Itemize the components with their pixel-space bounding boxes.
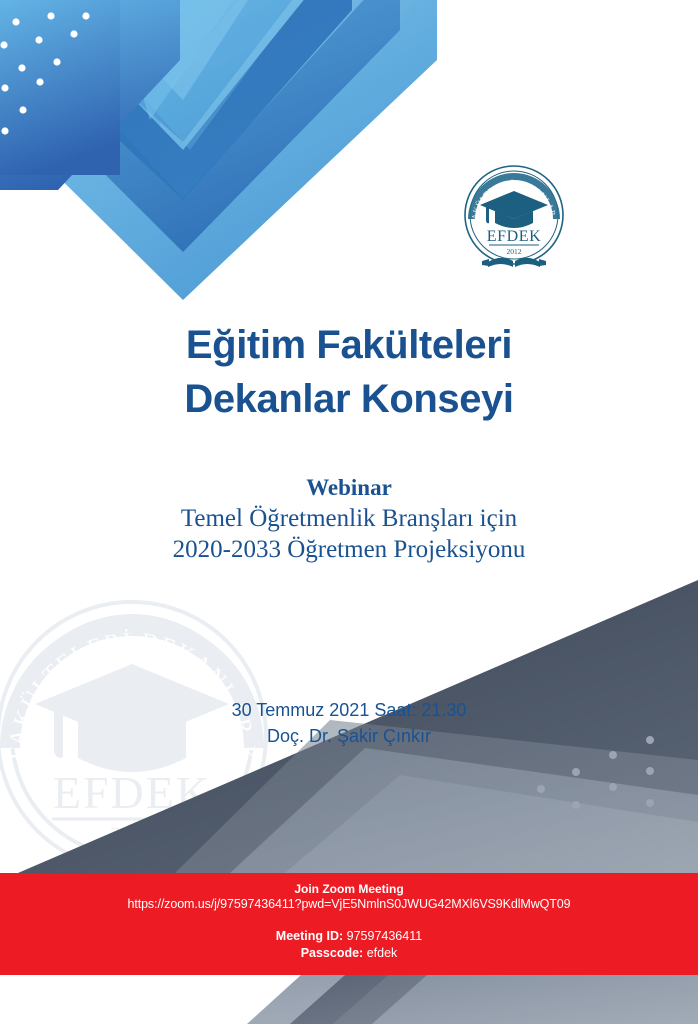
zoom-passcode-value: efdek — [367, 946, 398, 960]
zoom-meeting-id-value: 97597436411 — [347, 929, 423, 943]
subtitle-line-1: Temel Öğretmenlik Branşları için — [0, 503, 698, 534]
zoom-join-heading: Join Zoom Meeting — [0, 873, 698, 896]
logo-acronym: EFDEK — [487, 228, 542, 245]
top-chevron-decoration — [0, 0, 698, 300]
zoom-meeting-link[interactable]: https://zoom.us/j/97597436411?pwd=VjE5Nm… — [0, 896, 698, 913]
page-title: Eğitim Fakülteleri Dekanlar Konseyi — [0, 318, 698, 426]
zoom-passcode-label: Passcode: — [301, 946, 364, 960]
event-meta: 30 Temmuz 2021 Saat: 21.30 Doç. Dr. Şaki… — [0, 697, 698, 749]
logo-year: 2012 — [507, 247, 522, 256]
subtitle-block: Webinar Temel Öğretmenlik Branşları için… — [0, 473, 698, 565]
event-datetime: 30 Temmuz 2021 Saat: 21.30 — [0, 697, 698, 723]
zoom-meeting-id: Meeting ID: 97597436411 — [0, 913, 698, 945]
event-speaker: Doç. Dr. Şakir Çınkır — [0, 723, 698, 749]
zoom-meeting-id-label: Meeting ID: — [276, 929, 343, 943]
zoom-meeting-band: Join Zoom Meeting https://zoom.us/j/9759… — [0, 873, 698, 975]
title-line-1: Eğitim Fakülteleri — [0, 318, 698, 372]
efdek-seal-icon: EĞİTİM FAKÜLTELERİ DEKANLAR KONSEYİ EFDE… — [458, 161, 570, 271]
zoom-passcode: Passcode: efdek — [0, 945, 698, 962]
poster-canvas: EĞİTİM FAKÜLTELERİ DEKANLAR KONSEYİ EFDE… — [0, 0, 698, 1024]
title-line-2: Dekanlar Konseyi — [0, 372, 698, 426]
event-kind: Webinar — [0, 473, 698, 503]
